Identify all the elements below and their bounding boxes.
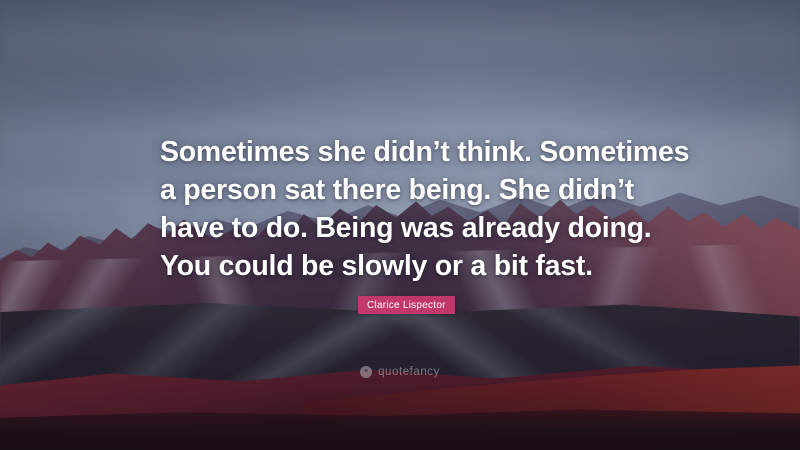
quote-poster: Sometimes she didn’t think. Sometimes a … [0, 0, 800, 450]
watermark-brand: quotefancy [378, 366, 440, 378]
watermark: ❝ quotefancy [0, 366, 800, 378]
author-name: Clarice Lispector [367, 300, 446, 311]
quote-line-2: a person sat there being. She didn’t [160, 171, 660, 209]
quote-text: Sometimes she didn’t think. Sometimes a … [160, 133, 660, 285]
quote-line-3: have to do. Being was already doing. [160, 209, 660, 247]
author-badge[interactable]: Clarice Lispector [358, 296, 455, 314]
quote-line-4: You could be slowly or a bit fast. [160, 247, 660, 285]
quote-line-1: Sometimes she didn’t think. Sometimes [160, 133, 660, 171]
quote-mark-circle-icon: ❝ [360, 366, 372, 378]
